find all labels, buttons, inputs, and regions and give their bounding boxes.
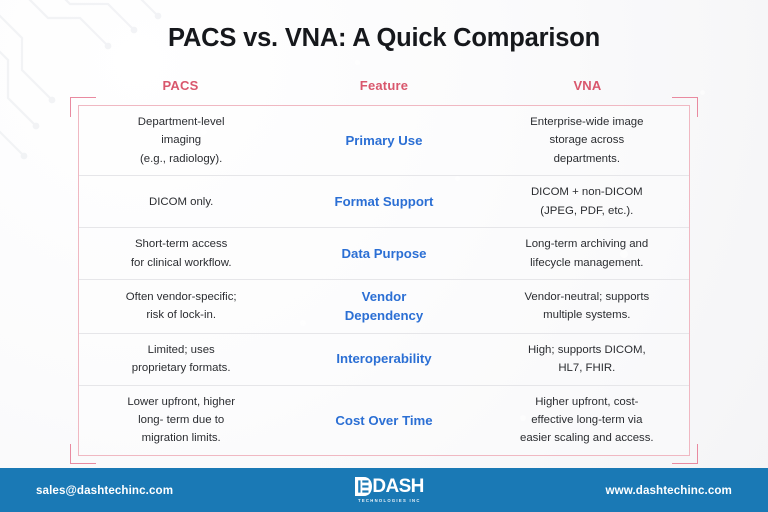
- cell-pacs: Department-level imaging (e.g., radiolog…: [79, 113, 283, 168]
- dash-logo-tagline: TECHNOLOGIES INC: [358, 499, 421, 503]
- cell-vna: Vendor-neutral; supports multiple system…: [485, 288, 689, 325]
- dash-d-icon: [355, 477, 372, 496]
- cell-vna: Enterprise-wide image storage across dep…: [485, 113, 689, 168]
- comparison-table: PACS Feature VNA Department-level imagin…: [78, 78, 690, 456]
- page-title: PACS vs. VNA: A Quick Comparison: [0, 24, 768, 53]
- cell-vna: Long-term archiving and lifecycle manage…: [485, 235, 689, 272]
- table-row: DICOM only. Format Support DICOM + non-D…: [79, 176, 689, 228]
- slide-canvas: PACS vs. VNA: A Quick Comparison PACS Fe…: [0, 0, 768, 512]
- table-row: Lower upfront, higher long- term due to …: [79, 386, 689, 455]
- cell-feature: Interoperability: [283, 349, 484, 368]
- table-row: Department-level imaging (e.g., radiolog…: [79, 106, 689, 176]
- cell-pacs: Lower upfront, higher long- term due to …: [79, 393, 283, 448]
- cell-vna: High; supports DICOM, HL7, FHIR.: [485, 341, 689, 378]
- dash-logo-word: DASH: [372, 477, 423, 496]
- cell-feature: Format Support: [283, 192, 484, 211]
- column-header-vna: VNA: [485, 78, 690, 93]
- footer-website[interactable]: www.dashtechinc.com: [606, 484, 732, 497]
- cell-feature: Primary Use: [283, 131, 484, 150]
- table-header-row: PACS Feature VNA: [78, 78, 690, 105]
- cell-feature: Cost Over Time: [283, 411, 484, 430]
- table-row: Limited; uses proprietary formats. Inter…: [79, 334, 689, 386]
- table-frame: Department-level imaging (e.g., radiolog…: [78, 105, 690, 456]
- column-header-feature: Feature: [283, 78, 485, 93]
- decorative-speck: [355, 60, 360, 65]
- cell-feature: Data Purpose: [283, 244, 484, 263]
- decorative-speck: [700, 90, 705, 95]
- dash-logo-mark: DASH: [355, 477, 424, 496]
- dash-logo: DASH TECHNOLOGIES INC: [355, 477, 424, 503]
- column-header-pacs: PACS: [78, 78, 283, 93]
- cell-vna: Higher upfront, cost- effective long-ter…: [485, 393, 689, 448]
- cell-pacs: Often vendor-specific; risk of lock-in.: [79, 288, 283, 325]
- footer-email[interactable]: sales@dashtechinc.com: [36, 484, 173, 497]
- footer-bar: sales@dashtechinc.com DASH TECHNOLOGIES …: [0, 468, 768, 512]
- cell-vna: DICOM + non-DICOM (JPEG, PDF, etc.).: [485, 183, 689, 220]
- cell-pacs: Limited; uses proprietary formats.: [79, 341, 283, 378]
- cell-feature: Vendor Dependency: [283, 287, 484, 325]
- cell-pacs: DICOM only.: [79, 193, 283, 211]
- table-row: Often vendor-specific; risk of lock-in. …: [79, 280, 689, 333]
- table-row: Short-term access for clinical workflow.…: [79, 228, 689, 280]
- cell-pacs: Short-term access for clinical workflow.: [79, 235, 283, 272]
